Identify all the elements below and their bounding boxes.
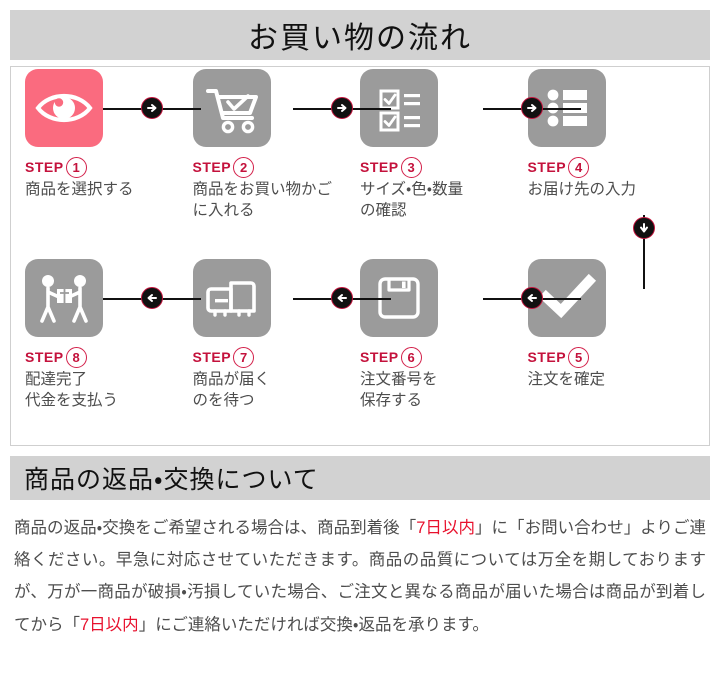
returns-policy-text: 商品の返品・交換をご希望される場合は、商品到着後「7日以内」に「お問い合わせ」よ… — [14, 512, 706, 641]
eye-icon — [25, 69, 103, 147]
step-word: STEP — [193, 349, 232, 365]
connector-arrow-left-2 — [331, 287, 353, 309]
flow-step-4[interactable]: STEP 4 お届け先の入力 — [528, 69, 696, 222]
flow-row-top-cells: STEP 1 商品を選択する — [11, 69, 709, 222]
step-1-caption: 商品を選択する — [25, 180, 193, 201]
step-7-caption: 商品が届く のを待つ — [193, 370, 361, 412]
step-word: STEP — [528, 349, 567, 365]
flow-row-bottom: STEP 8 配達完了 代金を支払う — [11, 259, 709, 445]
step-8-tile — [25, 259, 103, 337]
notice-highlight-2: 7日以内 — [80, 616, 139, 634]
step-word: STEP — [25, 349, 64, 365]
flow-step-1[interactable]: STEP 1 商品を選択する — [25, 69, 193, 222]
notice-part-3: 」にご連絡いただければ交換・返品を承ります。 — [139, 616, 489, 634]
step-number-badge: 3 — [401, 157, 422, 178]
step-number-badge: 5 — [568, 347, 589, 368]
returns-section-header: 商品の返品・交換について — [10, 456, 710, 500]
step-number-badge: 7 — [233, 347, 254, 368]
connector-arrow-left-3 — [521, 287, 543, 309]
flow-step-8[interactable]: STEP 8 配達完了 代金を支払う — [25, 259, 193, 412]
step-2-label: STEP 2 — [193, 157, 361, 177]
notice-part-1: 商品の返品・交換をご希望される場合は、商品到着後「 — [14, 519, 416, 537]
connector-arrow-right-1 — [141, 97, 163, 119]
step-3-caption: サイズ・色・数量 の確認 — [360, 180, 528, 222]
step-word: STEP — [528, 159, 567, 175]
flow-step-5[interactable]: STEP 5 注文を確定 — [528, 259, 696, 412]
connector-arrow-down — [633, 217, 655, 239]
delivery-handoff-icon — [25, 259, 103, 337]
step-4-label: STEP 4 — [528, 157, 696, 177]
step-2-caption: 商品をお買い物かご に入れる — [193, 180, 361, 222]
step-number-badge: 8 — [66, 347, 87, 368]
connector-arrow-left-1 — [141, 287, 163, 309]
step-6-label: STEP 6 — [360, 347, 528, 367]
step-word: STEP — [25, 159, 64, 175]
shopping-flow-panel: STEP 1 商品を選択する — [10, 66, 710, 446]
truck-icon — [193, 259, 271, 337]
notice-highlight-1: 7日以内 — [416, 519, 475, 537]
step-6-caption: 注文番号を 保存する — [360, 370, 528, 412]
flow-step-7[interactable]: STEP 7 商品が届く のを待つ — [193, 259, 361, 412]
step-1-tile — [25, 69, 103, 147]
step-number-badge: 6 — [401, 347, 422, 368]
flow-step-2[interactable]: STEP 2 商品をお買い物かご に入れる — [193, 69, 361, 222]
connector-arrow-right-3 — [521, 97, 543, 119]
returns-title: 商品の返品・交換について — [24, 460, 319, 496]
step-2-tile — [193, 69, 271, 147]
step-word: STEP — [360, 349, 399, 365]
step-5-caption: 注文を確定 — [528, 370, 696, 391]
connector-arrow-right-2 — [331, 97, 353, 119]
step-7-tile — [193, 259, 271, 337]
step-number-badge: 4 — [568, 157, 589, 178]
step-1-label: STEP 1 — [25, 157, 193, 177]
step-number-badge: 2 — [233, 157, 254, 178]
step-8-caption: 配達完了 代金を支払う — [25, 370, 193, 412]
step-8-label: STEP 8 — [25, 347, 193, 367]
step-4-caption: お届け先の入力 — [528, 180, 696, 201]
flow-section-header: お買い物の流れ — [10, 10, 710, 60]
shopping-cart-icon — [193, 69, 271, 147]
step-number-badge: 1 — [66, 157, 87, 178]
step-word: STEP — [360, 159, 399, 175]
flow-row-top: STEP 1 商品を選択する — [11, 69, 709, 255]
flow-step-6[interactable]: STEP 6 注文番号を 保存する — [360, 259, 528, 412]
page-title: お買い物の流れ — [248, 13, 472, 57]
step-word: STEP — [193, 159, 232, 175]
flow-row-bottom-cells: STEP 8 配達完了 代金を支払う — [11, 259, 709, 412]
flow-step-3[interactable]: STEP 3 サイズ・色・数量 の確認 — [360, 69, 528, 222]
step-5-label: STEP 5 — [528, 347, 696, 367]
step-3-label: STEP 3 — [360, 157, 528, 177]
step-7-label: STEP 7 — [193, 347, 361, 367]
